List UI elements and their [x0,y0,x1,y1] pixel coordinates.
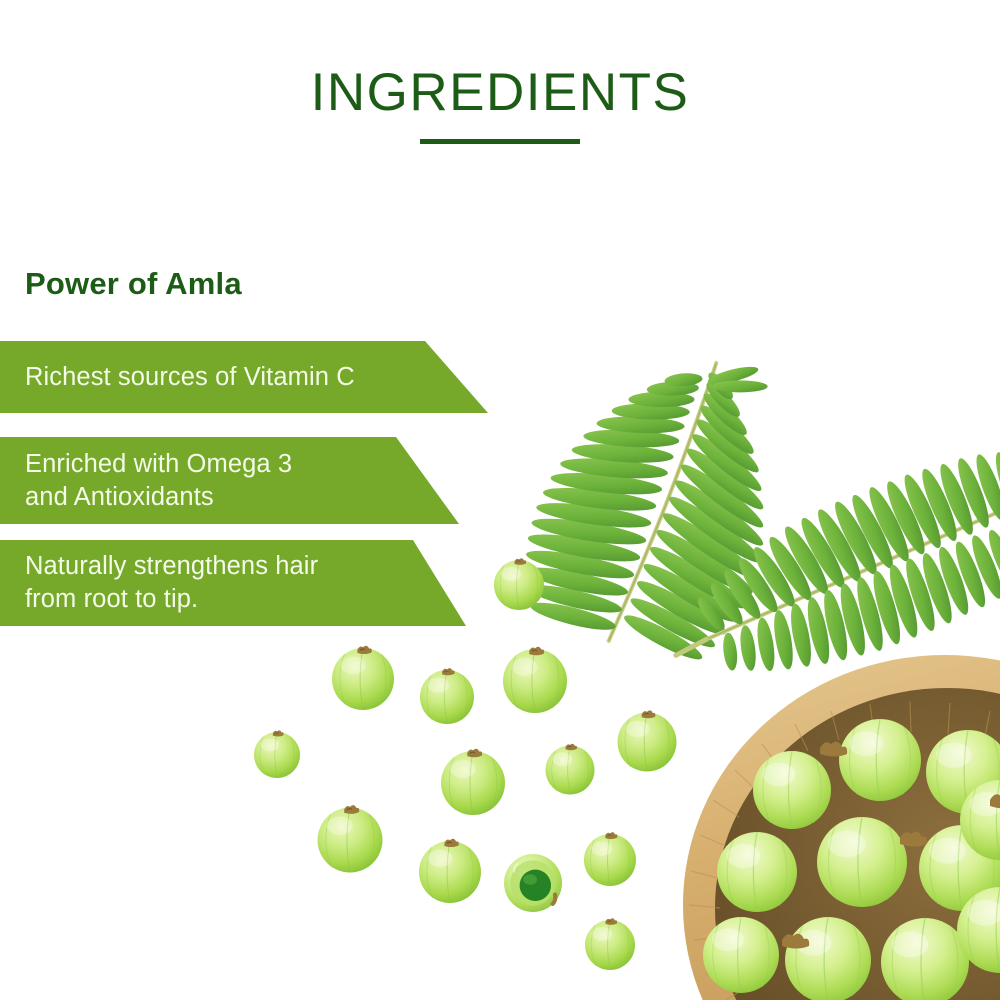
benefit-banner-1-label: Richest sources of Vitamin C [25,361,355,394]
benefit-banner-3-label: Naturally strengthens hair from root to … [25,550,318,616]
benefit-banner-2: Enriched with Omega 3 and Antioxidants [0,437,462,524]
benefit-banner-2-label: Enriched with Omega 3 and Antioxidants [25,448,292,514]
page-title: INGREDIENTS [0,62,1000,123]
wooden-bowl [683,655,1000,1000]
section-heading: Power of Amla [25,266,242,302]
benefit-banner-1: Richest sources of Vitamin C [0,341,490,413]
benefit-banner-3: Naturally strengthens hair from root to … [0,540,470,626]
title-underline [420,139,580,144]
ingredients-infographic: INGREDIENTS Power of Amla Richest source… [0,0,1000,1000]
